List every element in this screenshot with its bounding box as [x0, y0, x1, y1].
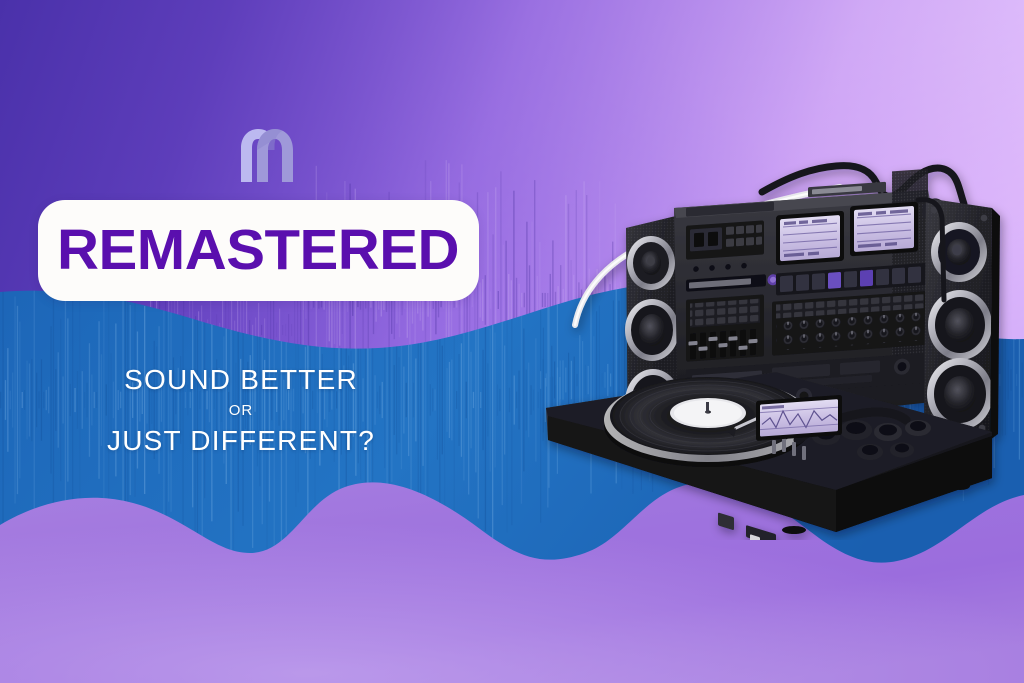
page-title: REMASTERED [58, 222, 460, 279]
vintage-boombox-turntable-photo: Pioneer [540, 140, 1024, 540]
subtitle-connector: OR [0, 400, 482, 423]
rn-monogram-logo[interactable] [231, 126, 295, 184]
subtitle-line-2: JUST DIFFERENT? [0, 423, 482, 459]
subtitle-line-1: SOUND BETTER [0, 362, 482, 398]
hero-banner: REMASTERED SOUND BETTER OR JUST DIFFEREN… [0, 0, 1024, 683]
subtitle-block: SOUND BETTER OR JUST DIFFERENT? [0, 362, 482, 459]
title-pill: REMASTERED [38, 200, 479, 301]
